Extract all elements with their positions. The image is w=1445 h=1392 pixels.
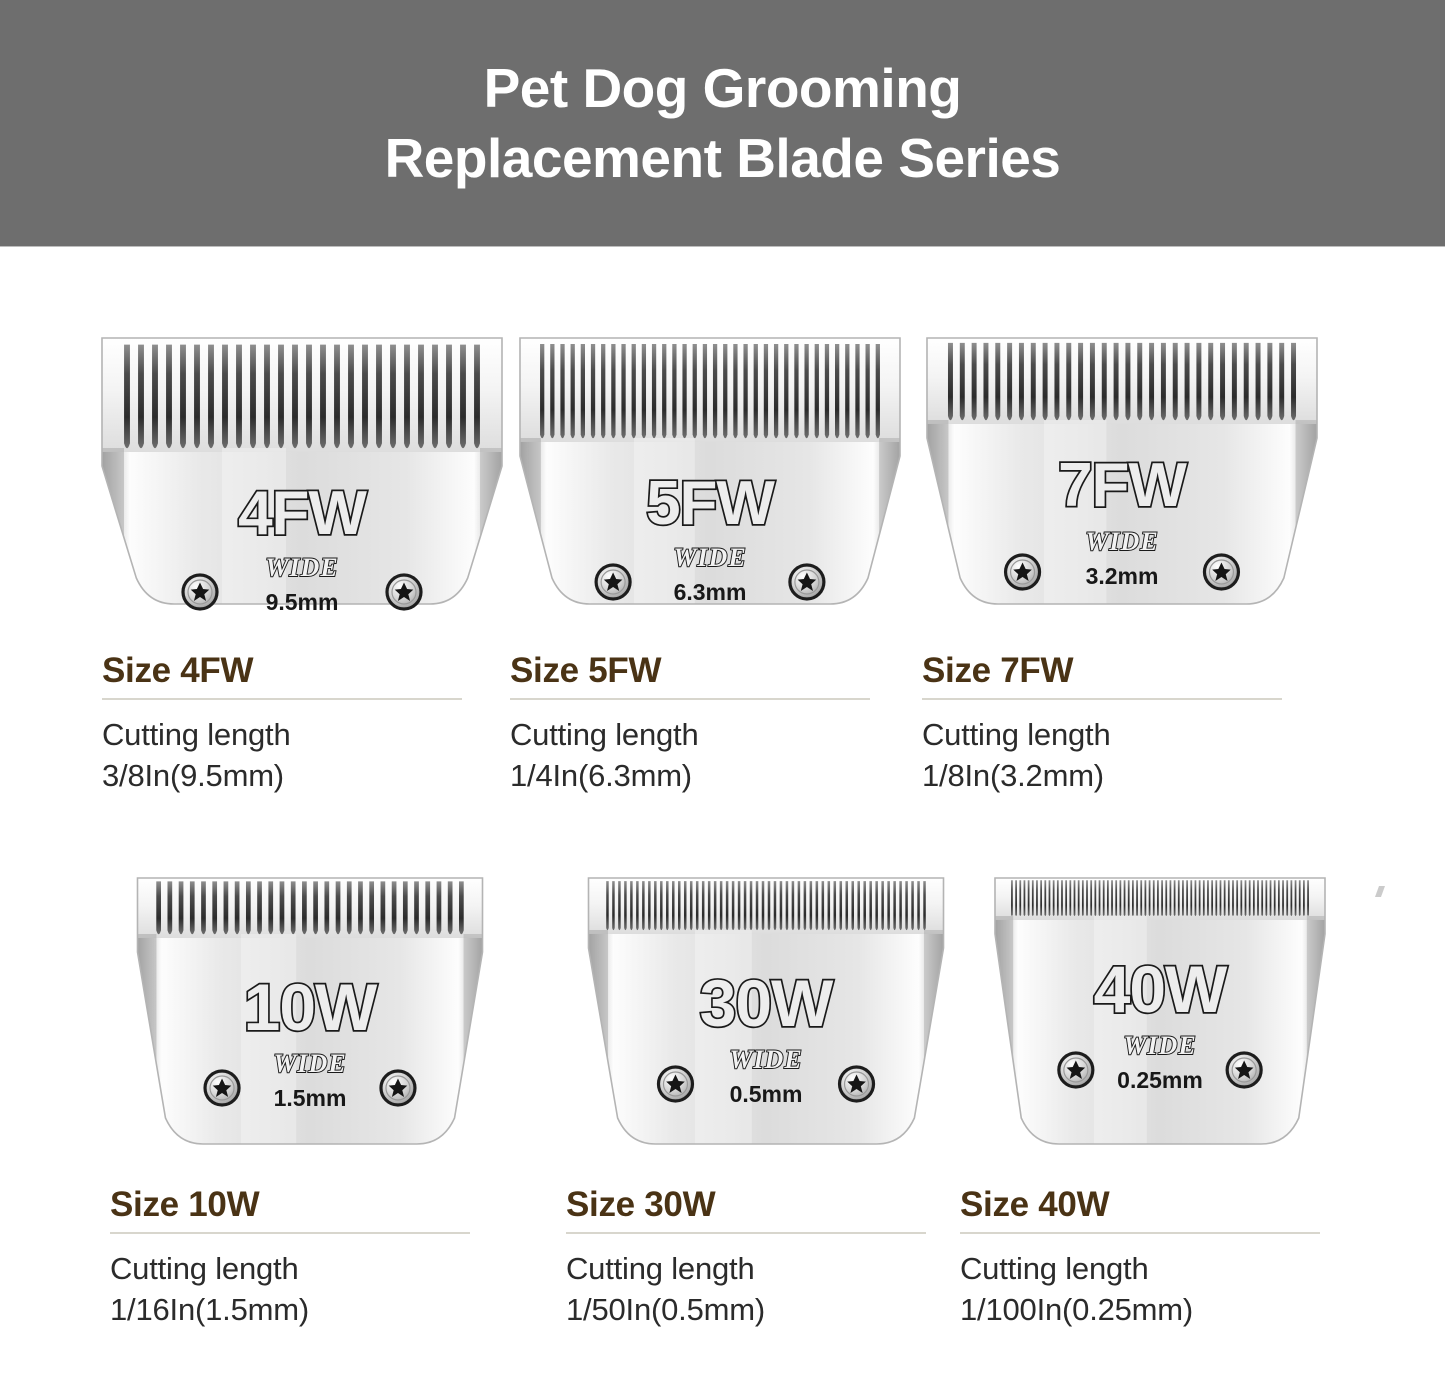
- blade-image-30w: 30W WIDE 0.5mm: [556, 872, 976, 1172]
- blade-image-4fw: 4FW WIDE 9.5mm: [92, 332, 512, 632]
- blade-engraved-size: 5FW: [646, 469, 775, 538]
- blade-card-10w[interactable]: 10W WIDE 1.5mm: [100, 872, 520, 1392]
- cutting-length-value-4fw: 3/8In(9.5mm): [102, 755, 502, 796]
- blade-svg-40w: 40W WIDE 0.25mm: [950, 872, 1370, 1172]
- cutting-length-label-10w: Cutting length: [110, 1248, 510, 1289]
- blade-caption-7fw: Size 7FW Cutting length 1/8In(3.2mm): [922, 650, 1322, 796]
- blade-row-bottom: 10W WIDE 1.5mm: [0, 872, 1445, 1392]
- blade-engraved-mm: 1.5mm: [274, 1085, 347, 1111]
- cutting-length-label-5fw: Cutting length: [510, 714, 910, 755]
- blade-engraved-wide: WIDE: [1085, 527, 1158, 556]
- page-title-line-1: Pet Dog Grooming: [484, 53, 962, 123]
- blade-engraved-wide: WIDE: [273, 1049, 346, 1078]
- cutting-length-label-30w: Cutting length: [566, 1248, 966, 1289]
- blade-engraved-mm: 9.5mm: [266, 589, 339, 615]
- caption-rule: [566, 1232, 926, 1234]
- caption-rule: [922, 698, 1282, 700]
- caption-rule: [510, 698, 870, 700]
- blade-svg-4fw: 4FW WIDE 9.5mm: [92, 332, 512, 632]
- cutting-length-value-30w: 1/50In(0.5mm): [566, 1289, 966, 1330]
- blade-row-top: 4FW WIDE 9.5mm: [0, 332, 1445, 852]
- cutting-length-value-7fw: 1/8In(3.2mm): [922, 755, 1322, 796]
- cutting-length-value-10w: 1/16In(1.5mm): [110, 1289, 510, 1330]
- cutting-length-label-4fw: Cutting length: [102, 714, 502, 755]
- blade-card-4fw[interactable]: 4FW WIDE 9.5mm: [92, 332, 512, 852]
- size-heading-4fw: Size 4FW: [102, 650, 502, 692]
- blade-engraved-wide: WIDE: [265, 553, 338, 582]
- size-heading-30w: Size 30W: [566, 1184, 966, 1226]
- blade-engraved-size: 40W: [1094, 952, 1228, 1026]
- blade-caption-4fw: Size 4FW Cutting length 3/8In(9.5mm): [102, 650, 502, 796]
- caption-rule: [110, 1232, 470, 1234]
- blade-grid: 4FW WIDE 9.5mm: [0, 247, 1445, 1356]
- blade-svg-10w: 10W WIDE 1.5mm: [100, 872, 520, 1172]
- cutting-length-value-5fw: 1/4In(6.3mm): [510, 755, 910, 796]
- blade-card-40w[interactable]: 40W WIDE 0.25mm: [950, 872, 1370, 1392]
- blade-engraved-mm: 6.3mm: [674, 579, 747, 605]
- cutting-length-value-40w: 1/100In(0.25mm): [960, 1289, 1360, 1330]
- blade-engraved-wide: WIDE: [673, 543, 746, 572]
- cutting-length-label-7fw: Cutting length: [922, 714, 1322, 755]
- blade-caption-5fw: Size 5FW Cutting length 1/4In(6.3mm): [510, 650, 910, 796]
- blade-engraved-size: 30W: [700, 966, 834, 1040]
- header-banner: Pet Dog Grooming Replacement Blade Serie…: [0, 0, 1445, 247]
- blade-svg-7fw: 7FW WIDE 3.2mm: [912, 332, 1332, 632]
- cutting-length-label-40w: Cutting length: [960, 1248, 1360, 1289]
- blade-engraved-wide: WIDE: [1123, 1031, 1196, 1060]
- blade-caption-10w: Size 10W Cutting length 1/16In(1.5mm): [110, 1184, 510, 1330]
- blade-engraved-wide: WIDE: [729, 1045, 802, 1074]
- size-heading-40w: Size 40W: [960, 1184, 1360, 1226]
- blade-card-7fw[interactable]: 7FW WIDE 3.2mm: [912, 332, 1332, 852]
- blade-engraved-mm: 0.25mm: [1117, 1067, 1203, 1093]
- blade-card-5fw[interactable]: 5FW WIDE 6.3mm: [500, 332, 920, 852]
- blade-caption-30w: Size 30W Cutting length 1/50In(0.5mm): [566, 1184, 966, 1330]
- blade-engraved-size: 7FW: [1058, 451, 1187, 520]
- caption-rule: [960, 1232, 1320, 1234]
- caption-rule: [102, 698, 462, 700]
- blade-image-5fw: 5FW WIDE 6.3mm: [500, 332, 920, 632]
- blade-engraved-mm: 0.5mm: [730, 1081, 803, 1107]
- page-title-line-2: Replacement Blade Series: [385, 123, 1061, 193]
- blade-svg-5fw: 5FW WIDE 6.3mm: [500, 332, 920, 632]
- blade-engraved-size: 4FW: [238, 479, 367, 548]
- blade-image-10w: 10W WIDE 1.5mm: [100, 872, 520, 1172]
- blade-engraved-size: 10W: [244, 970, 378, 1044]
- blade-image-7fw: 7FW WIDE 3.2mm: [912, 332, 1332, 632]
- blade-engraved-mm: 3.2mm: [1086, 563, 1159, 589]
- size-heading-7fw: Size 7FW: [922, 650, 1322, 692]
- size-heading-10w: Size 10W: [110, 1184, 510, 1226]
- blade-caption-40w: Size 40W Cutting length 1/100In(0.25mm): [960, 1184, 1360, 1330]
- blade-svg-30w: 30W WIDE 0.5mm: [556, 872, 976, 1172]
- blade-card-30w[interactable]: 30W WIDE 0.5mm: [556, 872, 976, 1392]
- size-heading-5fw: Size 5FW: [510, 650, 910, 692]
- blade-image-40w: 40W WIDE 0.25mm: [950, 872, 1370, 1172]
